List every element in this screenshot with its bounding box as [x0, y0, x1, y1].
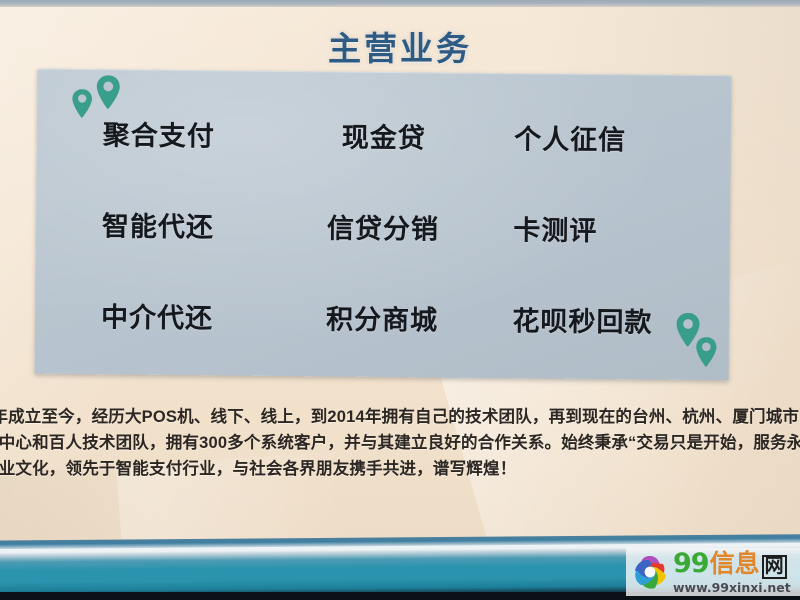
business-item: 智能代还	[58, 204, 275, 245]
business-item: 卡测评	[491, 208, 708, 249]
description-line: 企业文化，领先于智能支付行业，与社会各界朋友携手共进，谱写辉煌！	[0, 456, 800, 482]
business-item: 花呗秒回款	[490, 299, 707, 340]
business-item: 个人征信	[492, 117, 709, 158]
watermark-url: www.99xinxi.net	[673, 582, 791, 595]
description-line: 1年成立至今，经历大POS机、线下、线上，到2014年拥有自己的技术团队，再到现…	[0, 404, 800, 430]
description-line: 宫中心和百人技术团队，拥有300多个系统客户，并与其建立良好的合作关系。始终秉承…	[0, 430, 800, 456]
swirl-logo-icon	[630, 552, 670, 592]
watermark-text: 99 信息 网 www.99xinxi.net	[673, 550, 791, 594]
business-item: 聚合支付	[59, 113, 276, 154]
business-item: 信贷分销	[274, 206, 491, 247]
business-panel: 聚合支付 现金贷 个人征信 智能代还 信贷分销 卡测评 中介代还 积分商城 花呗…	[35, 69, 732, 381]
photographed-slide: 主营业务 聚合支付 现金贷 个人征信 智能代还 信贷分销 卡测评 中介代还 积分…	[0, 0, 800, 600]
watermark: 99 信息 网 www.99xinxi.net	[626, 548, 800, 596]
company-description: 1年成立至今，经历大POS机、线下、线上，到2014年拥有自己的技术团队，再到现…	[0, 404, 800, 482]
page-title: 主营业务	[0, 22, 800, 70]
watermark-box-char: 网	[762, 555, 787, 579]
watermark-digits: 99	[673, 550, 709, 577]
business-grid: 聚合支付 现金贷 个人征信 智能代还 信贷分销 卡测评 中介代还 积分商城 花呗…	[35, 69, 732, 381]
business-item: 积分商城	[274, 297, 491, 338]
business-item: 现金贷	[275, 115, 492, 156]
top-edge-strip	[0, 0, 800, 7]
watermark-cn: 信息	[710, 552, 760, 577]
watermark-brand: 99 信息 网	[673, 550, 791, 579]
business-item: 中介代还	[57, 295, 274, 336]
